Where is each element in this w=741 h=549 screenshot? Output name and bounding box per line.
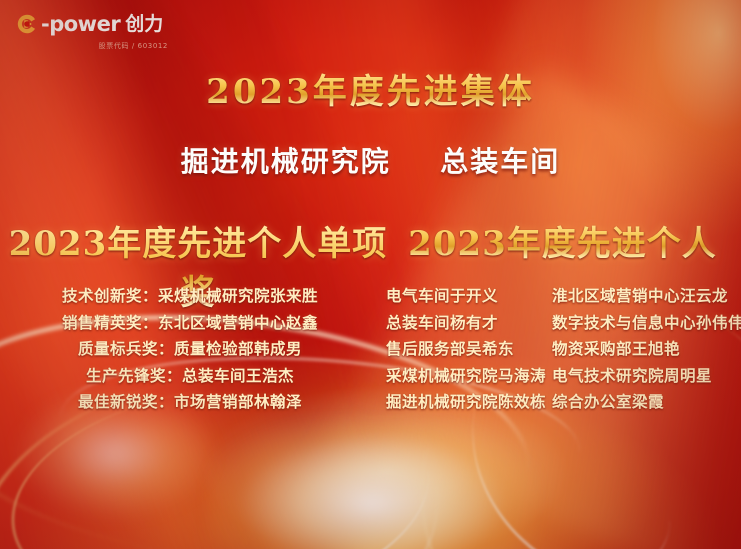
- company-logo: -power 创力 股票代码 / 603012: [16, 10, 186, 56]
- power-plug-ring-icon: [16, 13, 38, 35]
- winner-name: 综合办公室梁霞: [552, 389, 735, 416]
- light-glow-decoration: [207, 419, 537, 549]
- collective-winner-1: 掘进机械研究院: [181, 145, 391, 178]
- logo-wordmark-cn: 创力: [125, 13, 163, 35]
- section-title-advanced-individuals: 2023年度先进个人: [392, 216, 733, 265]
- list-item: 电气车间于开义 淮北区域营销中心汪云龙: [380, 283, 741, 310]
- list-item: 掘进机械研究院陈效栋 综合办公室梁霞: [380, 389, 741, 416]
- award-poster: -power 创力 股票代码 / 603012 2023年度先进集体 掘进机械研…: [0, 0, 741, 549]
- list-item: 采煤机械研究院马海涛 电气技术研究院周明星: [380, 363, 741, 390]
- special-awards-list: 技术创新奖：采煤机械研究院张来胜 销售精英奖：东北区域营销中心赵鑫 质量标兵奖：…: [0, 283, 380, 416]
- light-ribbon-decoration: [145, 416, 675, 549]
- logo-wordmark: -power: [41, 13, 120, 35]
- winner-name: 采煤机械研究院马海涛: [380, 363, 552, 390]
- winner-name: 数字技术与信息中心孙伟伟: [552, 310, 735, 337]
- advanced-individuals-list: 电气车间于开义 淮北区域营销中心汪云龙 总装车间杨有才 数字技术与信息中心孙伟伟…: [380, 283, 741, 416]
- list-item: 技术创新奖：采煤机械研究院张来胜: [0, 283, 380, 310]
- list-item: 总装车间杨有才 数字技术与信息中心孙伟伟: [380, 310, 741, 337]
- list-item: 销售精英奖：东北区域营销中心赵鑫: [0, 310, 380, 337]
- list-item: 质量标兵奖：质量检验部韩成男: [0, 336, 380, 363]
- collective-title: 2023年度先进集体: [0, 64, 741, 113]
- winner-name: 售后服务部吴希东: [380, 336, 552, 363]
- stock-code-label: 股票代码 / 603012: [16, 41, 168, 51]
- winner-name: 淮北区域营销中心汪云龙: [552, 283, 735, 310]
- logo-row: -power 创力: [16, 10, 186, 38]
- list-item: 售后服务部吴希东 物资采购部王旭艳: [380, 336, 741, 363]
- collective-winner-2: 总装车间: [440, 145, 560, 178]
- winner-name: 总装车间杨有才: [380, 310, 552, 337]
- list-item: 最佳新锐奖：市场营销部林翰泽: [0, 389, 380, 416]
- winner-name: 掘进机械研究院陈效栋: [380, 389, 552, 416]
- winner-name: 电气技术研究院周明星: [552, 363, 735, 390]
- collective-winners: 掘进机械研究院 总装车间: [0, 140, 741, 180]
- winner-name: 物资采购部王旭艳: [552, 336, 735, 363]
- list-item: 生产先锋奖：总装车间王浩杰: [0, 363, 380, 390]
- winner-name: 电气车间于开义: [380, 283, 552, 310]
- winner-lists: 技术创新奖：采煤机械研究院张来胜 销售精英奖：东北区域营销中心赵鑫 质量标兵奖：…: [0, 283, 741, 416]
